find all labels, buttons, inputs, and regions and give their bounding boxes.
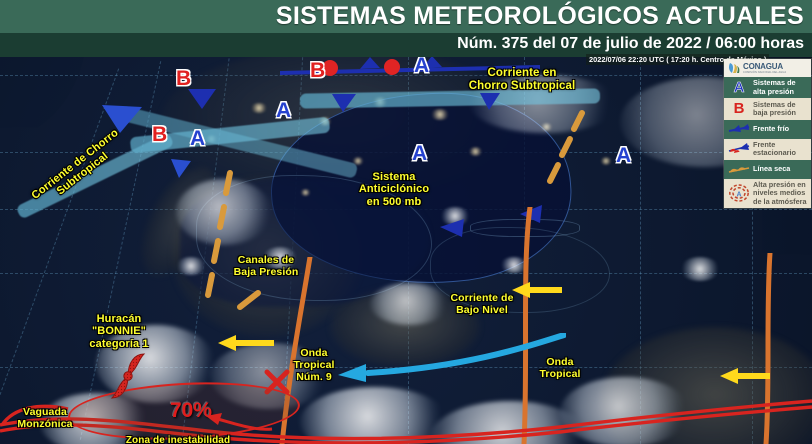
- cloud-small: [680, 257, 720, 281]
- legend-panel: CONAGUA COMISIÓN NACIONAL DEL AGUA A Sis…: [723, 58, 812, 209]
- pressure-symbol-a: A: [616, 145, 631, 166]
- pressure-symbol-a: A: [190, 128, 205, 149]
- pressure-symbol-a: A: [276, 100, 291, 121]
- low-pressure-letter-icon: B: [727, 100, 751, 117]
- label-low-pressure-channels: Canales de Baja Presión: [216, 255, 316, 279]
- city-light: [600, 157, 612, 165]
- pressure-symbol-b: B: [176, 68, 191, 89]
- legend-item-low-pressure: B Sistemas de baja presión: [724, 98, 811, 119]
- cold-front-arrow: [478, 91, 504, 113]
- pressure-symbol-b: B: [310, 60, 325, 81]
- label-instability-zone: Zona de inestabilidad con potencial para…: [62, 435, 294, 444]
- weather-map-screenshot: SISTEMAS METEOROLÓGICOS ACTUALES Núm. 37…: [0, 0, 812, 444]
- page-title: SISTEMAS METEOROLÓGICOS ACTUALES: [276, 2, 804, 31]
- bulletin-subtitle: Núm. 375 del 07 de julio de 2022 / 06:00…: [457, 35, 804, 53]
- legend-label: Línea seca: [751, 165, 808, 173]
- legend-item-mid-level-high: A Alta presión en niveles medios de la a…: [724, 179, 811, 208]
- label-anticyclone-500mb: Sistema Anticiclónico en 500 mb: [334, 171, 454, 208]
- label-monsoon-trough: Vaguada Monzónica: [2, 407, 88, 431]
- hurricane-symbol: [108, 352, 148, 400]
- conagua-subtitle: COMISIÓN NACIONAL DEL AGUA: [743, 71, 786, 74]
- development-pointer: [204, 409, 274, 435]
- legend-label: Sistemas de alta presión: [751, 79, 808, 96]
- cold-front-arrow: [330, 91, 360, 115]
- legend-label: Frente estacionario: [751, 141, 808, 158]
- high-pressure-letter-icon: A: [727, 79, 751, 96]
- legend-item-cold-front: Frente frío: [724, 120, 811, 139]
- dry-line-icon: [727, 163, 751, 175]
- conagua-name: CONAGUA: [743, 62, 783, 71]
- city-light: [430, 109, 450, 120]
- conagua-logo: CONAGUA COMISIÓN NACIONAL DEL AGUA: [724, 59, 811, 77]
- conagua-mark-icon: [727, 61, 741, 75]
- city-light: [300, 189, 311, 196]
- pressure-symbol-a: A: [414, 57, 429, 76]
- legend-label: Frente frío: [751, 125, 808, 133]
- pressure-symbol-b: B: [152, 124, 167, 145]
- cold-front-arrow: [168, 157, 194, 181]
- dry-line-dashes-north: [540, 109, 600, 199]
- stationary-front-icon: [727, 142, 751, 156]
- legend-item-stationary-front: Frente estacionario: [724, 139, 811, 160]
- label-tropical-wave-9: Onda Tropical Núm. 9: [280, 348, 348, 383]
- legend-item-dry-line: Línea seca: [724, 160, 811, 179]
- legend-item-high-pressure: A Sistemas de alta presión: [724, 77, 811, 98]
- city-light: [468, 147, 483, 156]
- cold-front-arrow: [438, 217, 466, 239]
- satellite-map[interactable]: 70% Corriente de Chorro Subtropical Corr…: [0, 57, 812, 444]
- pressure-symbol-a: A: [412, 143, 427, 164]
- label-low-level-jet: Corriente de Bajo Nivel: [432, 293, 532, 317]
- label-hurricane-bonnie: Huracán "BONNIE" categoría 1: [66, 313, 172, 350]
- mid-level-high-pressure-icon: A: [727, 183, 751, 203]
- label-jet-subtropical-right: Corriente en Chorro Subtropical: [452, 67, 592, 93]
- label-tropical-wave: Onda Tropical: [526, 357, 594, 381]
- svg-text:A: A: [736, 192, 741, 199]
- legend-label: Sistemas de baja presión: [751, 101, 808, 118]
- cold-front-icon: [727, 123, 751, 135]
- city-light: [250, 103, 268, 113]
- legend-label: Alta presión en niveles medios de la atm…: [751, 181, 808, 206]
